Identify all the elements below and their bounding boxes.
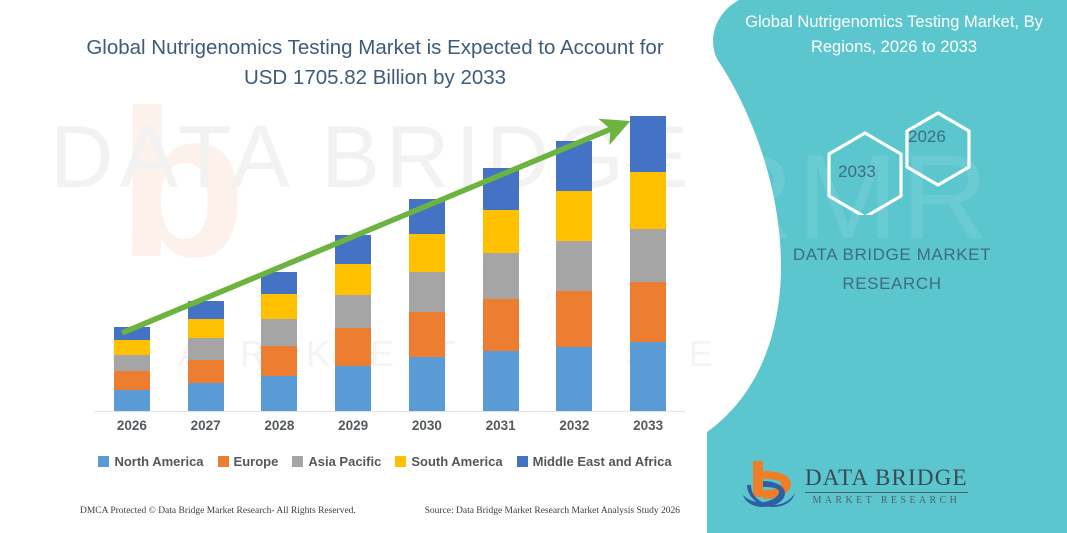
bar-segment: [114, 371, 150, 389]
dbmr-logo-mark-icon: [739, 457, 801, 515]
page-title: Global Nutrigenomics Testing Market is E…: [70, 33, 680, 93]
bar-2032[interactable]: [556, 141, 592, 411]
x-axis-tick-2030: 2030: [409, 418, 445, 433]
bar-2033[interactable]: [630, 116, 666, 411]
bar-segment: [409, 234, 445, 272]
bar-segment: [556, 347, 592, 411]
bar-segment: [630, 172, 666, 229]
bar-2029[interactable]: [335, 235, 371, 411]
legend-item[interactable]: North America: [98, 454, 203, 469]
bar-segment: [261, 319, 297, 346]
bar-segment: [335, 235, 371, 264]
x-axis-labels: 20262027202820292030203120322033: [95, 418, 685, 433]
hexagon-label-2026: 2026: [908, 127, 946, 147]
bar-segment: [483, 299, 519, 350]
x-axis-tick-2032: 2032: [556, 418, 592, 433]
x-axis-tick-2026: 2026: [114, 418, 150, 433]
bar-segment: [114, 355, 150, 371]
legend-label: Asia Pacific: [308, 454, 381, 469]
logo-divider: [805, 492, 968, 493]
logo-title: DATA BRIDGE: [805, 465, 968, 491]
legend-swatch-icon: [292, 456, 303, 467]
bar-segment: [114, 390, 150, 411]
legend-item[interactable]: Asia Pacific: [292, 454, 381, 469]
x-axis-tick-2028: 2028: [261, 418, 297, 433]
footer: DMCA Protected © Data Bridge Market Rese…: [80, 506, 680, 516]
legend-swatch-icon: [517, 456, 528, 467]
x-axis-tick-2033: 2033: [630, 418, 666, 433]
bar-segment: [483, 210, 519, 253]
bar-segment: [483, 253, 519, 299]
bar-segment: [261, 376, 297, 411]
footer-copyright: DMCA Protected © Data Bridge Market Rese…: [80, 506, 356, 516]
bar-segment: [630, 116, 666, 172]
bar-segment: [483, 351, 519, 411]
logo-subtitle: MARKET RESEARCH: [813, 495, 961, 507]
bar-2030[interactable]: [409, 199, 445, 411]
legend-swatch-icon: [98, 456, 109, 467]
infographic-root: b DATA BRIDGE M A R K E T R E S E A R C …: [0, 0, 1067, 533]
bar-segment: [188, 360, 224, 384]
bar-segment: [556, 191, 592, 240]
bar-2031[interactable]: [483, 168, 519, 411]
bar-group: [95, 100, 685, 411]
bar-segment: [409, 312, 445, 357]
chart-panel: b DATA BRIDGE M A R K E T R E S E A R C …: [0, 0, 740, 533]
chart-legend: North AmericaEuropeAsia PacificSouth Ame…: [80, 454, 690, 469]
bar-segment: [188, 301, 224, 319]
bar-2027[interactable]: [188, 301, 224, 411]
legend-label: North America: [114, 454, 203, 469]
bar-segment: [556, 291, 592, 347]
bar-segment: [630, 282, 666, 342]
footer-source: Source: Data Bridge Market Research Mark…: [425, 506, 680, 516]
bar-segment: [188, 338, 224, 359]
legend-item[interactable]: Middle East and Africa: [517, 454, 672, 469]
bar-segment: [409, 357, 445, 411]
bar-segment: [114, 327, 150, 340]
legend-swatch-icon: [395, 456, 406, 467]
legend-item[interactable]: Europe: [218, 454, 279, 469]
bar-segment: [335, 295, 371, 328]
hexagon-label-2033: 2033: [838, 162, 876, 182]
bar-segment: [335, 264, 371, 295]
bar-segment: [261, 272, 297, 295]
company-logo: DATA BRIDGE MARKET RESEARCH: [739, 455, 1039, 517]
brand-line-2: RESEARCH: [737, 269, 1047, 298]
x-axis-line: [95, 411, 685, 412]
hexagon-shapes-icon: [797, 105, 997, 215]
bar-segment: [335, 328, 371, 366]
hexagon-2026-icon: [907, 113, 969, 185]
bar-segment: [556, 141, 592, 191]
legend-label: Middle East and Africa: [533, 454, 672, 469]
bar-segment: [114, 340, 150, 355]
bar-segment: [335, 366, 371, 411]
bar-segment: [630, 342, 666, 411]
bar-segment: [556, 241, 592, 291]
bar-segment: [188, 319, 224, 338]
bar-segment: [261, 346, 297, 376]
bar-2026[interactable]: [114, 327, 150, 411]
x-axis-tick-2031: 2031: [483, 418, 519, 433]
hexagon-badge-group: 2026 2033: [797, 105, 997, 215]
x-axis-tick-2029: 2029: [335, 418, 371, 433]
bar-segment: [188, 383, 224, 411]
bar-segment: [409, 199, 445, 234]
logo-text-block: DATA BRIDGE MARKET RESEARCH: [805, 465, 968, 507]
brand-line-1: DATA BRIDGE MARKET: [737, 240, 1047, 269]
x-axis-tick-2027: 2027: [188, 418, 224, 433]
legend-item[interactable]: South America: [395, 454, 502, 469]
legend-label: Europe: [234, 454, 279, 469]
chart-plot-area: [95, 100, 685, 412]
side-panel-title: Global Nutrigenomics Testing Market, By …: [739, 10, 1049, 60]
side-panel-brand: DATA BRIDGE MARKET RESEARCH: [737, 240, 1047, 298]
legend-swatch-icon: [218, 456, 229, 467]
bar-segment: [409, 272, 445, 313]
bar-segment: [630, 229, 666, 283]
bar-segment: [483, 168, 519, 211]
legend-label: South America: [411, 454, 502, 469]
bar-2028[interactable]: [261, 272, 297, 411]
bar-segment: [261, 294, 297, 319]
side-panel: RMR Global Nutrigenomics Testing Market,…: [707, 0, 1067, 533]
